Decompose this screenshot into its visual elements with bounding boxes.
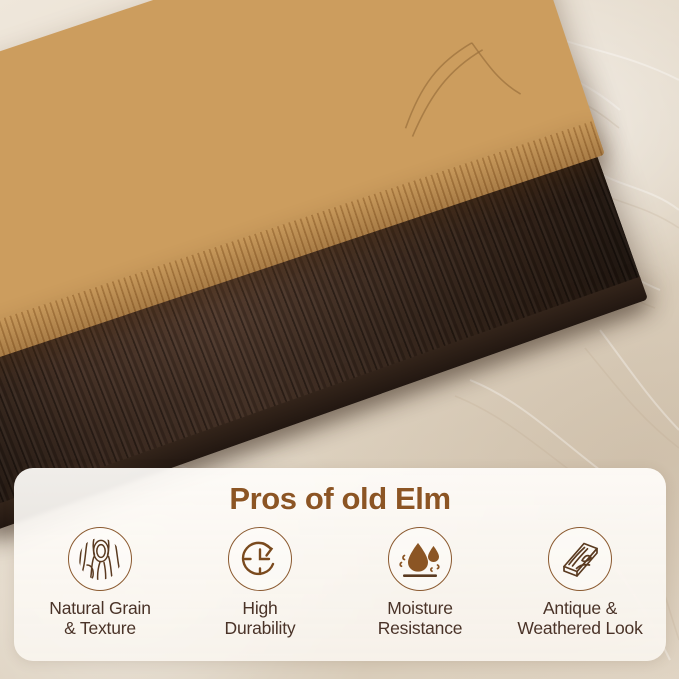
- pro-label-moisture-resistance: Moisture Resistance: [378, 598, 463, 639]
- pro-label-natural-grain: Natural Grain & Texture: [49, 598, 150, 639]
- pro-label-line1: Antique &: [543, 598, 617, 618]
- pro-item-natural-grain[interactable]: Natural Grain & Texture: [21, 527, 179, 639]
- pro-label-line2: Resistance: [378, 618, 463, 638]
- pro-item-moisture-resistance[interactable]: Moisture Resistance: [341, 527, 499, 639]
- pros-list: Natural Grain & Texture: [14, 527, 666, 639]
- pro-label-line1: Natural Grain: [49, 598, 150, 618]
- pro-label-line1: High: [242, 598, 277, 618]
- product-feature-image: Pros of old Elm: [0, 0, 679, 679]
- pro-icon-wrapper: [68, 527, 132, 591]
- page-title: Pros of old Elm: [14, 481, 666, 517]
- pro-item-antique-weathered[interactable]: Antique & Weathered Look: [501, 527, 659, 639]
- pro-icon-wrapper: [548, 527, 612, 591]
- wood-plank-icon: [556, 535, 604, 583]
- pros-card: Pros of old Elm: [14, 468, 666, 661]
- pro-icon-wrapper: [388, 527, 452, 591]
- pro-icon-wrapper: [228, 527, 292, 591]
- water-droplet-icon: [396, 535, 444, 583]
- clock-refresh-icon: [236, 535, 284, 583]
- pro-label-line1: Moisture: [387, 598, 453, 618]
- pro-label-line2: Durability: [225, 618, 296, 638]
- pro-label-high-durability: High Durability: [225, 598, 296, 639]
- pro-label-line2: Weathered Look: [517, 618, 642, 638]
- wood-grain-icon: [76, 535, 124, 583]
- pro-label-antique-weathered: Antique & Weathered Look: [517, 598, 642, 639]
- pro-label-line2: & Texture: [64, 618, 136, 638]
- pro-item-high-durability[interactable]: High Durability: [181, 527, 339, 639]
